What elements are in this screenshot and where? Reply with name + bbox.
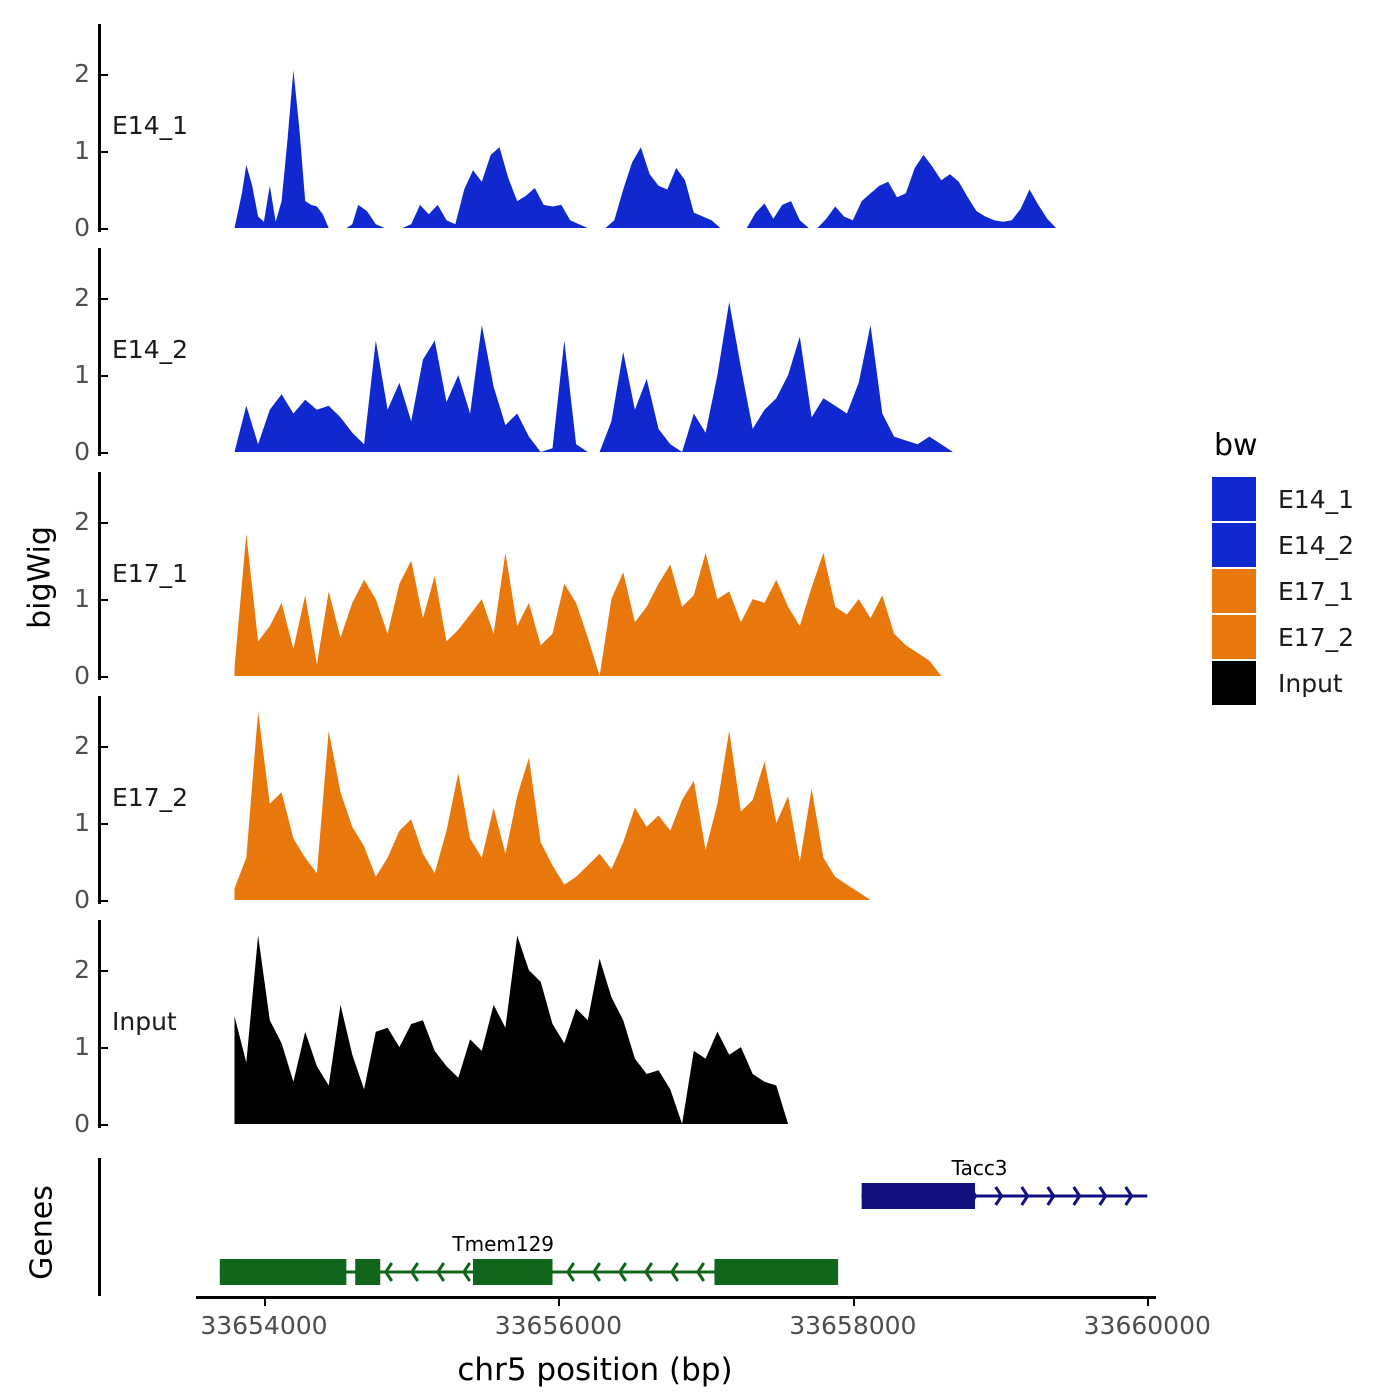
legend-swatch-e17_2 xyxy=(1212,615,1256,659)
y-tick-label: 0 xyxy=(44,439,90,464)
panel-e14_2-y-axis xyxy=(98,248,101,456)
genes-panel-axis xyxy=(98,1158,101,1296)
y-axis-strip-label-bigwig: bigWig xyxy=(23,478,58,678)
gene-annotation-track: Tacc3 Tmem129 xyxy=(102,1150,1162,1296)
y-tick-label: 2 xyxy=(44,733,90,758)
legend-item-e14_2[interactable]: E14_2 xyxy=(1212,523,1354,567)
signal-track-e14_1 xyxy=(102,24,1162,232)
legend-item-e17_1[interactable]: E17_1 xyxy=(1212,569,1354,613)
y-tick-label: 2 xyxy=(44,61,90,86)
y-tick-label: 1 xyxy=(44,1034,90,1059)
y-tick-label: 0 xyxy=(44,663,90,688)
panel-e14_1-y-axis xyxy=(98,24,101,232)
legend-swatch-e14_2 xyxy=(1212,523,1256,567)
x-axis-title: chr5 position (bp) xyxy=(0,1352,1190,1388)
legend-label: E14_2 xyxy=(1278,531,1354,560)
signal-track-e14_2 xyxy=(102,248,1162,456)
y-tick-label: 0 xyxy=(44,1111,90,1136)
x-tick-label: 33654000 xyxy=(164,1311,364,1340)
legend-title: bw xyxy=(1214,428,1354,463)
genome-browser-figure: bigWig Genes 012E14_1012E14_2012E17_1012… xyxy=(0,0,1400,1400)
gene-label-tmem129: Tmem129 xyxy=(452,1232,554,1256)
legend-swatch-input xyxy=(1212,661,1256,705)
panel-e17_2-y-axis xyxy=(98,696,101,904)
signal-track-e17_2 xyxy=(102,696,1162,904)
y-tick-label: 2 xyxy=(44,509,90,534)
x-tick-label: 33656000 xyxy=(458,1311,658,1340)
y-tick-label: 0 xyxy=(44,887,90,912)
y-tick-label: 1 xyxy=(44,138,90,163)
legend-swatch-e14_1 xyxy=(1212,477,1256,521)
x-tick-label: 33658000 xyxy=(753,1311,953,1340)
y-tick-label: 1 xyxy=(44,586,90,611)
y-axis-strip-label-genes: Genes xyxy=(25,1143,60,1323)
legend-label: E17_2 xyxy=(1278,623,1354,652)
panel-e17_1-y-axis xyxy=(98,472,101,680)
legend-label: E17_1 xyxy=(1278,577,1354,606)
legend: bw E14_1E14_2E17_1E17_2Input xyxy=(1212,428,1354,707)
legend-item-e14_1[interactable]: E14_1 xyxy=(1212,477,1354,521)
y-tick-label: 1 xyxy=(44,362,90,387)
x-tick-label: 33660000 xyxy=(1047,1311,1247,1340)
legend-item-input[interactable]: Input xyxy=(1212,661,1354,705)
gene-label-tacc3: Tacc3 xyxy=(952,1156,1008,1180)
x-axis-line xyxy=(196,1296,1156,1299)
y-tick-label: 2 xyxy=(44,957,90,982)
x-tick xyxy=(853,1297,855,1306)
x-tick xyxy=(1147,1297,1149,1306)
x-tick xyxy=(264,1297,266,1306)
x-tick xyxy=(558,1297,560,1306)
signal-track-e17_1 xyxy=(102,472,1162,680)
legend-swatch-e17_1 xyxy=(1212,569,1256,613)
legend-label: Input xyxy=(1278,669,1343,698)
y-tick-label: 2 xyxy=(44,285,90,310)
legend-item-e17_2[interactable]: E17_2 xyxy=(1212,615,1354,659)
y-tick-label: 0 xyxy=(44,215,90,240)
y-tick-label: 1 xyxy=(44,810,90,835)
signal-track-input xyxy=(102,920,1162,1128)
legend-label: E14_1 xyxy=(1278,485,1354,514)
panel-input-y-axis xyxy=(98,920,101,1128)
